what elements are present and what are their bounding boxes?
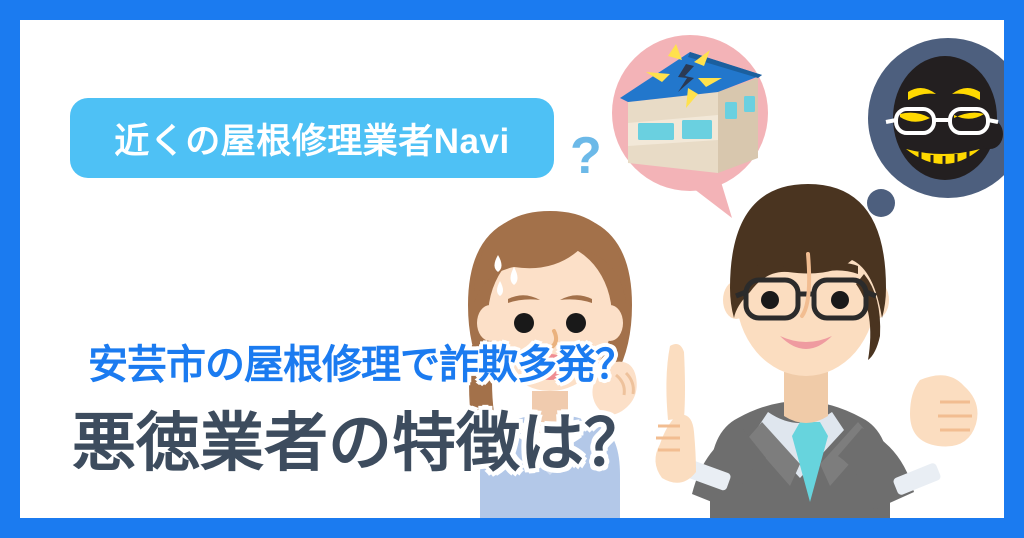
woman-eye-left bbox=[514, 313, 534, 333]
man-pointing-hand bbox=[655, 344, 696, 483]
page-title: 悪徳業者の特徴は？ bbox=[72, 392, 648, 484]
woman-eye-right bbox=[566, 313, 586, 333]
site-name-label: 近くの屋根修理業者Navi bbox=[114, 113, 509, 164]
man-eye-right bbox=[831, 291, 849, 309]
banner-inner-area: 近くの屋根修理業者Navi ? 安芸市の屋根修理で詐欺多発？ 悪徳業者の特徴は？ bbox=[20, 20, 1004, 518]
subtitle-text: 安芸市の屋根修理で詐欺多発？ bbox=[88, 332, 634, 390]
pointing-businessman-illustration bbox=[650, 170, 980, 518]
man-neck bbox=[784, 372, 828, 423]
site-name-badge[interactable]: 近くの屋根修理業者Navi bbox=[70, 98, 554, 178]
man-eye-left bbox=[761, 291, 779, 309]
man-open-hand bbox=[910, 375, 978, 446]
banner-canvas: 近くの屋根修理業者Navi ? 安芸市の屋根修理で詐欺多発？ 悪徳業者の特徴は？ bbox=[0, 0, 1024, 538]
